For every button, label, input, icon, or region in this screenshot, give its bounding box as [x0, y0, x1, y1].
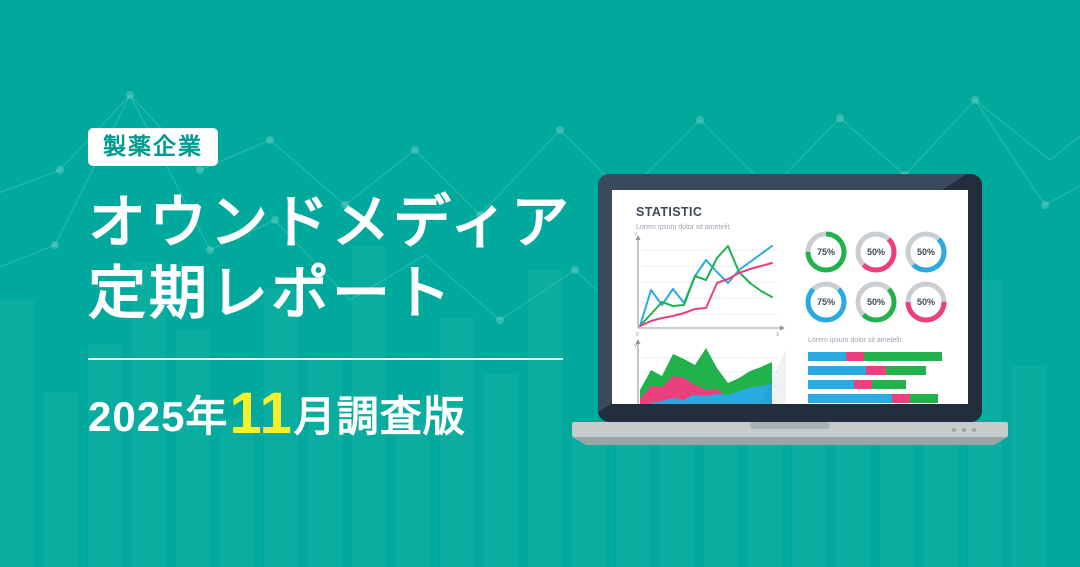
donut-label-5: 50%	[867, 297, 885, 307]
donut-label-3: 50%	[917, 247, 935, 257]
bars-caption: Lorem ipsum dolor sit ametelit.	[808, 337, 903, 344]
bar-row-3	[808, 380, 906, 389]
title-line-2: 定期レポート	[88, 259, 588, 330]
date-suffix: 月調査版	[294, 396, 466, 438]
report-banner: 製薬企業 オウンドメディア 定期レポート 2025年 11 月調査版	[0, 0, 1080, 567]
bar-row-4	[808, 394, 938, 403]
date-year: 2025年	[88, 396, 228, 438]
date-line: 2025年 11 月調査版	[88, 383, 588, 441]
laptop-illustration: STATISTIC Lorem ipsum dolor sit ametelit…	[570, 160, 1010, 445]
laptop-base	[572, 422, 1008, 445]
headline-block: 製薬企業 オウンドメディア 定期レポート 2025年 11 月調査版	[88, 128, 588, 441]
base-dot-3	[972, 428, 976, 432]
category-badge: 製薬企業	[88, 128, 218, 166]
date-month-number: 11	[229, 385, 292, 443]
base-dot-1	[952, 428, 956, 432]
donut-label-1: 75%	[817, 247, 835, 257]
statistic-subheading: Lorem ipsum dolor sit ametelit.	[636, 224, 731, 231]
base-dot-2	[962, 428, 966, 432]
donut-label-4: 75%	[817, 297, 835, 307]
bar-row-1	[808, 352, 942, 361]
donut-label-2: 50%	[867, 247, 885, 257]
title-divider	[88, 358, 563, 360]
line-chart-origin-label: 0	[636, 332, 639, 338]
donut-label-6: 50%	[917, 297, 935, 307]
title-line-1: オウンドメディア	[88, 188, 588, 259]
bar-row-2	[808, 366, 926, 375]
page-title: オウンドメディア 定期レポート	[88, 188, 588, 330]
statistic-heading: STATISTIC	[636, 205, 702, 219]
